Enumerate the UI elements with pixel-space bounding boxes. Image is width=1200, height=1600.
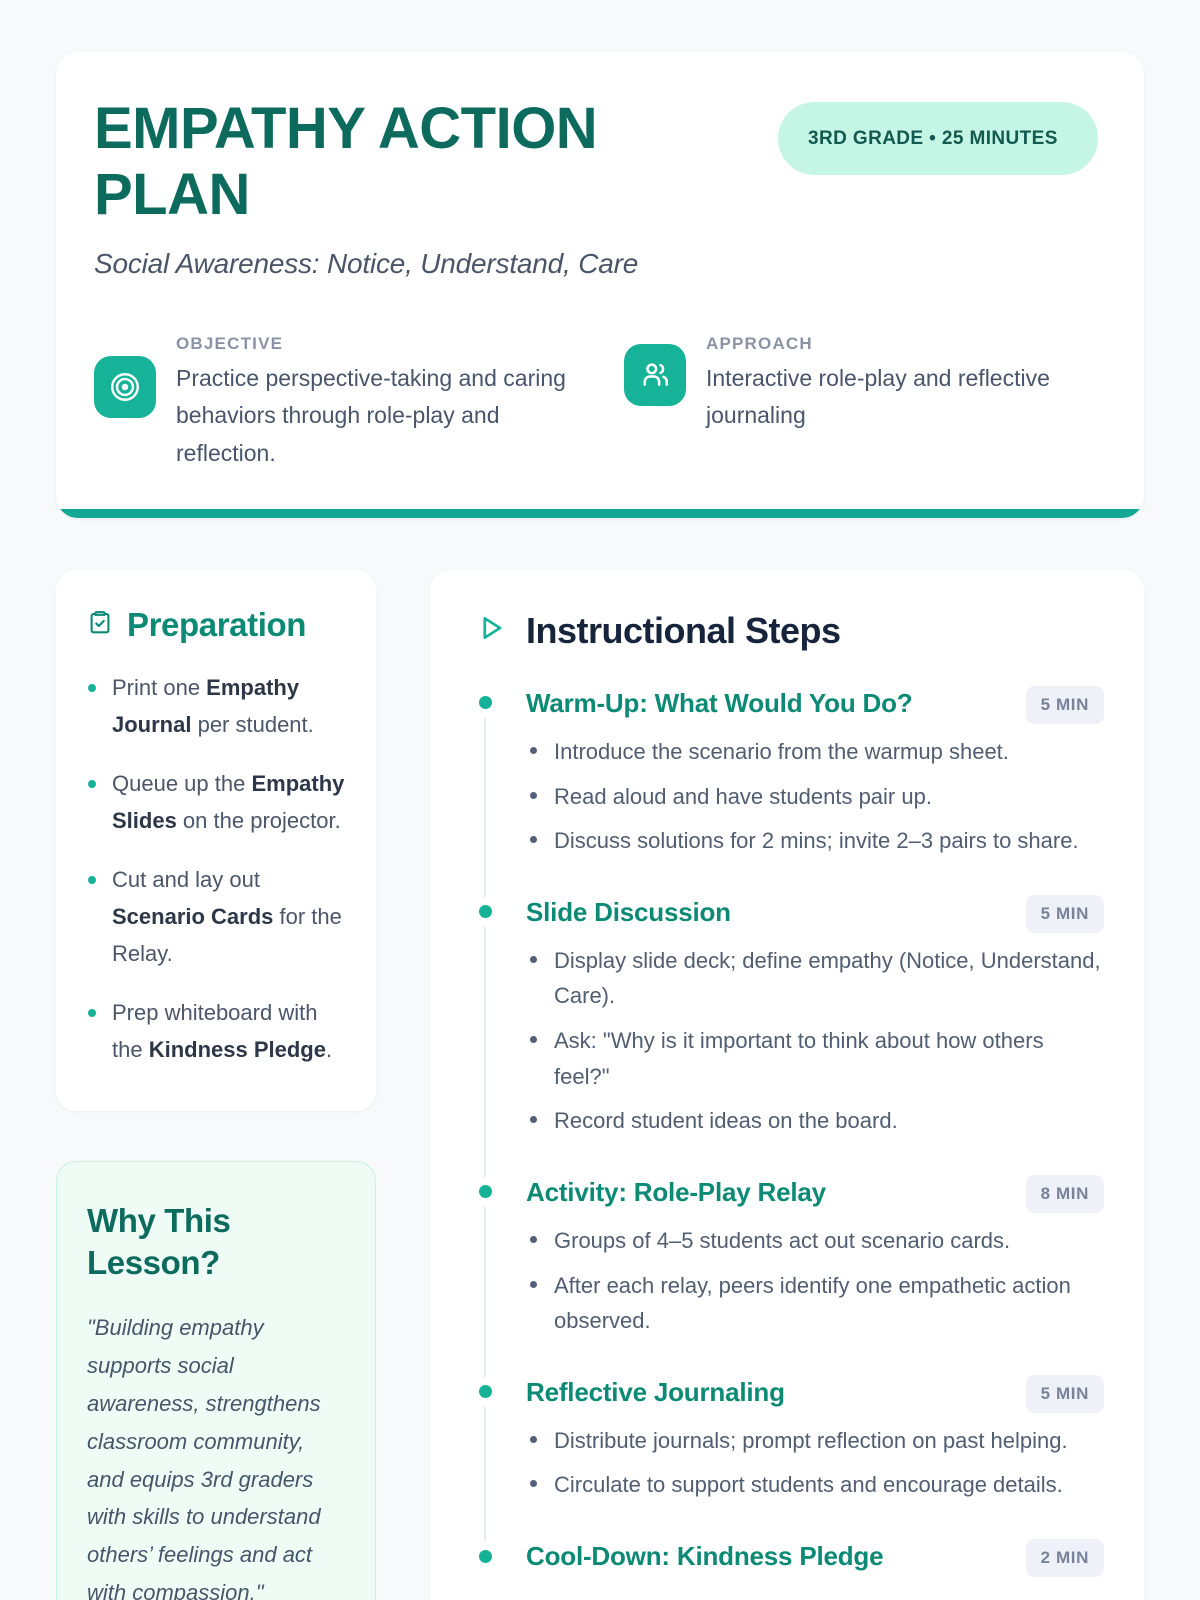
list-item: Read aloud and have students pair up. bbox=[526, 779, 1104, 815]
step-item: Activity: Role-Play Relay 8 MIN Groups o… bbox=[474, 1175, 1104, 1375]
title-block: EMPATHY ACTION PLAN Social Awareness: No… bbox=[94, 96, 750, 280]
clipboard-check-icon bbox=[86, 608, 114, 641]
prep-text-strong: Kindness Pledge bbox=[149, 1037, 326, 1062]
step-title: Cool-Down: Kindness Pledge bbox=[526, 1539, 883, 1572]
list-item: Display slide deck; define empathy (Noti… bbox=[526, 943, 1104, 1014]
steps-timeline: Warm-Up: What Would You Do? 5 MIN Introd… bbox=[474, 686, 1104, 1577]
step-item: Cool-Down: Kindness Pledge 2 MIN bbox=[474, 1539, 1104, 1577]
objective-item: OBJECTIVE Practice perspective-taking an… bbox=[94, 334, 568, 472]
prep-text-post: per student. bbox=[191, 712, 313, 737]
step-title: Reflective Journaling bbox=[526, 1375, 785, 1408]
step-title: Activity: Role-Play Relay bbox=[526, 1175, 826, 1208]
users-icon bbox=[624, 344, 686, 406]
step-item: Slide Discussion 5 MIN Display slide dec… bbox=[474, 895, 1104, 1175]
step-header: Cool-Down: Kindness Pledge 2 MIN bbox=[526, 1539, 1104, 1577]
instructional-steps-header: Instructional Steps bbox=[474, 610, 1104, 652]
step-duration-badge: 5 MIN bbox=[1026, 1375, 1104, 1413]
timeline-dot-icon bbox=[474, 692, 496, 714]
page-title: EMPATHY ACTION PLAN bbox=[94, 96, 694, 228]
preparation-list: Print one Empathy Journal per student. Q… bbox=[86, 670, 346, 1069]
timeline-dot-icon bbox=[474, 1381, 496, 1403]
page-subtitle: Social Awareness: Notice, Understand, Ca… bbox=[94, 248, 750, 280]
step-header: Slide Discussion 5 MIN bbox=[526, 895, 1104, 933]
step-item: Warm-Up: What Would You Do? 5 MIN Introd… bbox=[474, 686, 1104, 895]
prep-text-pre: Queue up the bbox=[112, 771, 251, 796]
instructional-steps-card: Instructional Steps Warm-Up: What Would … bbox=[430, 570, 1144, 1600]
timeline-dot-icon bbox=[474, 901, 496, 923]
step-header: Reflective Journaling 5 MIN bbox=[526, 1375, 1104, 1413]
step-bullet-list: Display slide deck; define empathy (Noti… bbox=[526, 943, 1104, 1139]
prep-text-post: . bbox=[326, 1037, 332, 1062]
list-item: Queue up the Empathy Slides on the proje… bbox=[86, 766, 346, 840]
header-top-row: EMPATHY ACTION PLAN Social Awareness: No… bbox=[94, 96, 1098, 280]
approach-label: APPROACH bbox=[706, 334, 1098, 354]
step-header: Warm-Up: What Would You Do? 5 MIN bbox=[526, 686, 1104, 724]
lesson-plan-page: EMPATHY ACTION PLAN Social Awareness: No… bbox=[0, 0, 1200, 1600]
preparation-card: Preparation Print one Empathy Journal pe… bbox=[56, 570, 376, 1111]
step-duration-badge: 5 MIN bbox=[1026, 895, 1104, 933]
list-item: Distribute journals; prompt reflection o… bbox=[526, 1423, 1104, 1459]
step-header: Activity: Role-Play Relay 8 MIN bbox=[526, 1175, 1104, 1213]
step-bullet-list: Introduce the scenario from the warmup s… bbox=[526, 734, 1104, 859]
prep-text-strong: Scenario Cards bbox=[112, 904, 273, 929]
prep-text-post: on the projector. bbox=[177, 808, 341, 833]
why-this-lesson-quote: "Building empathy supports social awaren… bbox=[87, 1309, 345, 1600]
list-item: Cut and lay out Scenario Cards for the R… bbox=[86, 862, 346, 973]
step-bullet-list: Distribute journals; prompt reflection o… bbox=[526, 1423, 1104, 1503]
step-title: Slide Discussion bbox=[526, 895, 731, 928]
prep-text-pre: Print one bbox=[112, 675, 206, 700]
preparation-header: Preparation bbox=[86, 606, 346, 644]
timeline-dot-icon bbox=[474, 1181, 496, 1203]
why-this-lesson-title: Why This Lesson? bbox=[87, 1200, 345, 1286]
objective-text-block: OBJECTIVE Practice perspective-taking an… bbox=[176, 334, 568, 472]
step-duration-badge: 8 MIN bbox=[1026, 1175, 1104, 1213]
list-item: Discuss solutions for 2 mins; invite 2–3… bbox=[526, 823, 1104, 859]
list-item: Circulate to support students and encour… bbox=[526, 1467, 1104, 1503]
step-duration-badge: 2 MIN bbox=[1026, 1539, 1104, 1577]
left-column: Preparation Print one Empathy Journal pe… bbox=[56, 570, 376, 1600]
step-title: Warm-Up: What Would You Do? bbox=[526, 686, 912, 719]
list-item: Prep whiteboard with the Kindness Pledge… bbox=[86, 995, 346, 1069]
prep-text-pre: Cut and lay out bbox=[112, 867, 260, 892]
list-item: Print one Empathy Journal per student. bbox=[86, 670, 346, 744]
instructional-steps-title: Instructional Steps bbox=[526, 610, 841, 652]
grade-duration-badge: 3RD GRADE • 25 MINUTES bbox=[778, 102, 1098, 175]
objective-label: OBJECTIVE bbox=[176, 334, 568, 354]
timeline-dot-icon bbox=[474, 1545, 496, 1567]
header-card: EMPATHY ACTION PLAN Social Awareness: No… bbox=[56, 52, 1144, 518]
target-icon bbox=[94, 356, 156, 418]
objective-body: Practice perspective-taking and caring b… bbox=[176, 360, 568, 472]
play-triangle-icon bbox=[474, 611, 508, 650]
approach-item: APPROACH Interactive role-play and refle… bbox=[624, 334, 1098, 472]
list-item: After each relay, peers identify one emp… bbox=[526, 1268, 1104, 1339]
list-item: Record student ideas on the board. bbox=[526, 1103, 1104, 1139]
step-duration-badge: 5 MIN bbox=[1026, 686, 1104, 724]
approach-body: Interactive role-play and reflective jou… bbox=[706, 360, 1098, 435]
list-item: Introduce the scenario from the warmup s… bbox=[526, 734, 1104, 770]
main-content-grid: Preparation Print one Empathy Journal pe… bbox=[56, 570, 1144, 1600]
right-column: Instructional Steps Warm-Up: What Would … bbox=[430, 570, 1144, 1600]
approach-text-block: APPROACH Interactive role-play and refle… bbox=[706, 334, 1098, 435]
preparation-title: Preparation bbox=[127, 606, 306, 644]
list-item: Ask: "Why is it important to think about… bbox=[526, 1023, 1104, 1094]
objective-approach-row: OBJECTIVE Practice perspective-taking an… bbox=[94, 334, 1098, 472]
list-item: Groups of 4–5 students act out scenario … bbox=[526, 1223, 1104, 1259]
step-item: Reflective Journaling 5 MIN Distribute j… bbox=[474, 1375, 1104, 1539]
header-accent-bar bbox=[56, 509, 1144, 518]
step-bullet-list: Groups of 4–5 students act out scenario … bbox=[526, 1223, 1104, 1339]
why-this-lesson-card: Why This Lesson? "Building empathy suppo… bbox=[56, 1161, 376, 1600]
